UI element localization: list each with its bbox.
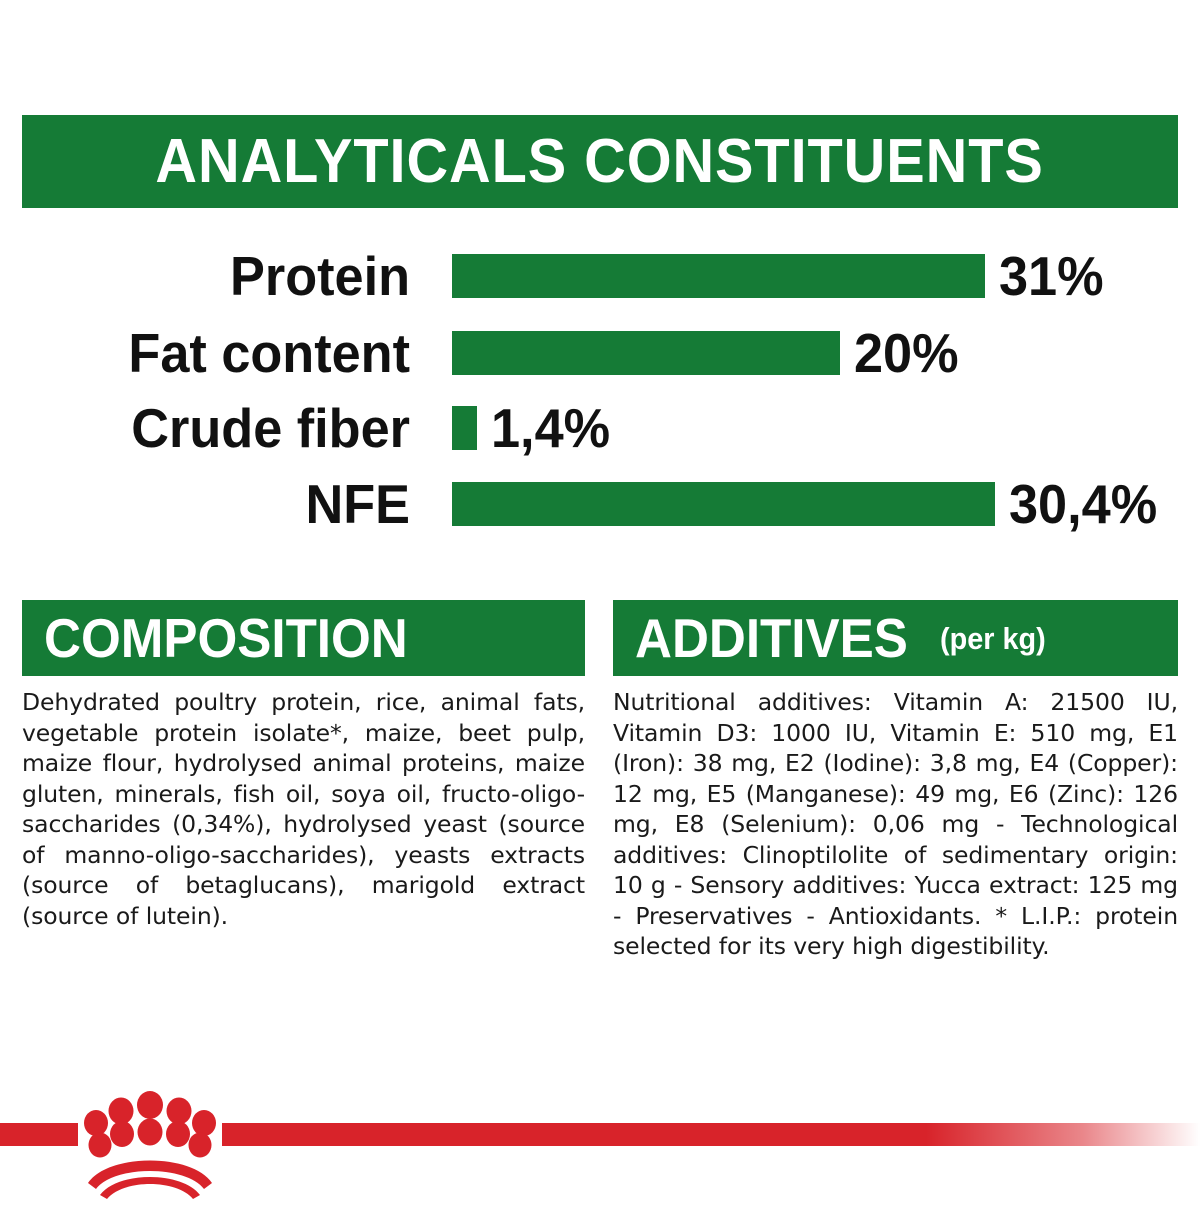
chart-value-label: 30,4%	[1009, 477, 1157, 532]
additives-header: ADDITIVES (per kg)	[613, 600, 1178, 676]
additives-body-text: Nutritional additives: Vitamin A: 21500 …	[613, 687, 1178, 962]
additives-heading: ADDITIVES	[635, 611, 908, 666]
chart-row: Crude fiber 1,4%	[0, 392, 1200, 464]
chart-category-label: Protein	[21, 249, 411, 304]
composition-heading: COMPOSITION	[44, 611, 408, 666]
chart-value-label: 31%	[999, 249, 1104, 304]
composition-panel: COMPOSITION Dehydrated poultry protein, …	[22, 600, 585, 931]
chart-category-label: Crude fiber	[21, 401, 411, 456]
additives-panel: ADDITIVES (per kg) Nutritional additives…	[613, 600, 1178, 962]
composition-body-text: Dehydrated poultry protein, rice, animal…	[22, 687, 585, 931]
chart-bar-track: 20%	[452, 317, 1200, 389]
chart-category-label: Fat content	[21, 326, 411, 381]
chart-bar-protein	[452, 254, 985, 298]
chart-bar-fat-content	[452, 331, 840, 375]
analytical-constituents-header: ANALYTICALS CONSTITUENTS	[22, 115, 1178, 208]
chart-row: NFE 30,4%	[0, 468, 1200, 540]
footer-rule-left	[0, 1123, 78, 1146]
additives-heading-suffix: (per kg)	[940, 623, 1046, 654]
chart-value-label: 1,4%	[491, 401, 610, 456]
royal-canin-crown-icon	[78, 1085, 222, 1200]
footer-rule-right	[222, 1123, 1200, 1146]
nutrition-label-page: ANALYTICALS CONSTITUENTS Protein 31% Fat…	[0, 0, 1200, 1200]
chart-bar-crude-fiber	[452, 406, 477, 450]
page-title: ANALYTICALS CONSTITUENTS	[156, 131, 1044, 193]
composition-header: COMPOSITION	[22, 600, 585, 676]
analytical-constituents-chart: Protein 31% Fat content 20% Crude fiber …	[0, 240, 1200, 530]
chart-bar-track: 1,4%	[452, 392, 1200, 464]
chart-bar-nfe	[452, 482, 995, 526]
chart-value-label: 20%	[854, 326, 959, 381]
chart-bar-track: 31%	[452, 240, 1200, 312]
chart-row: Fat content 20%	[0, 317, 1200, 389]
chart-bar-track: 30,4%	[452, 468, 1200, 540]
chart-category-label: NFE	[21, 477, 411, 532]
chart-row: Protein 31%	[0, 240, 1200, 312]
